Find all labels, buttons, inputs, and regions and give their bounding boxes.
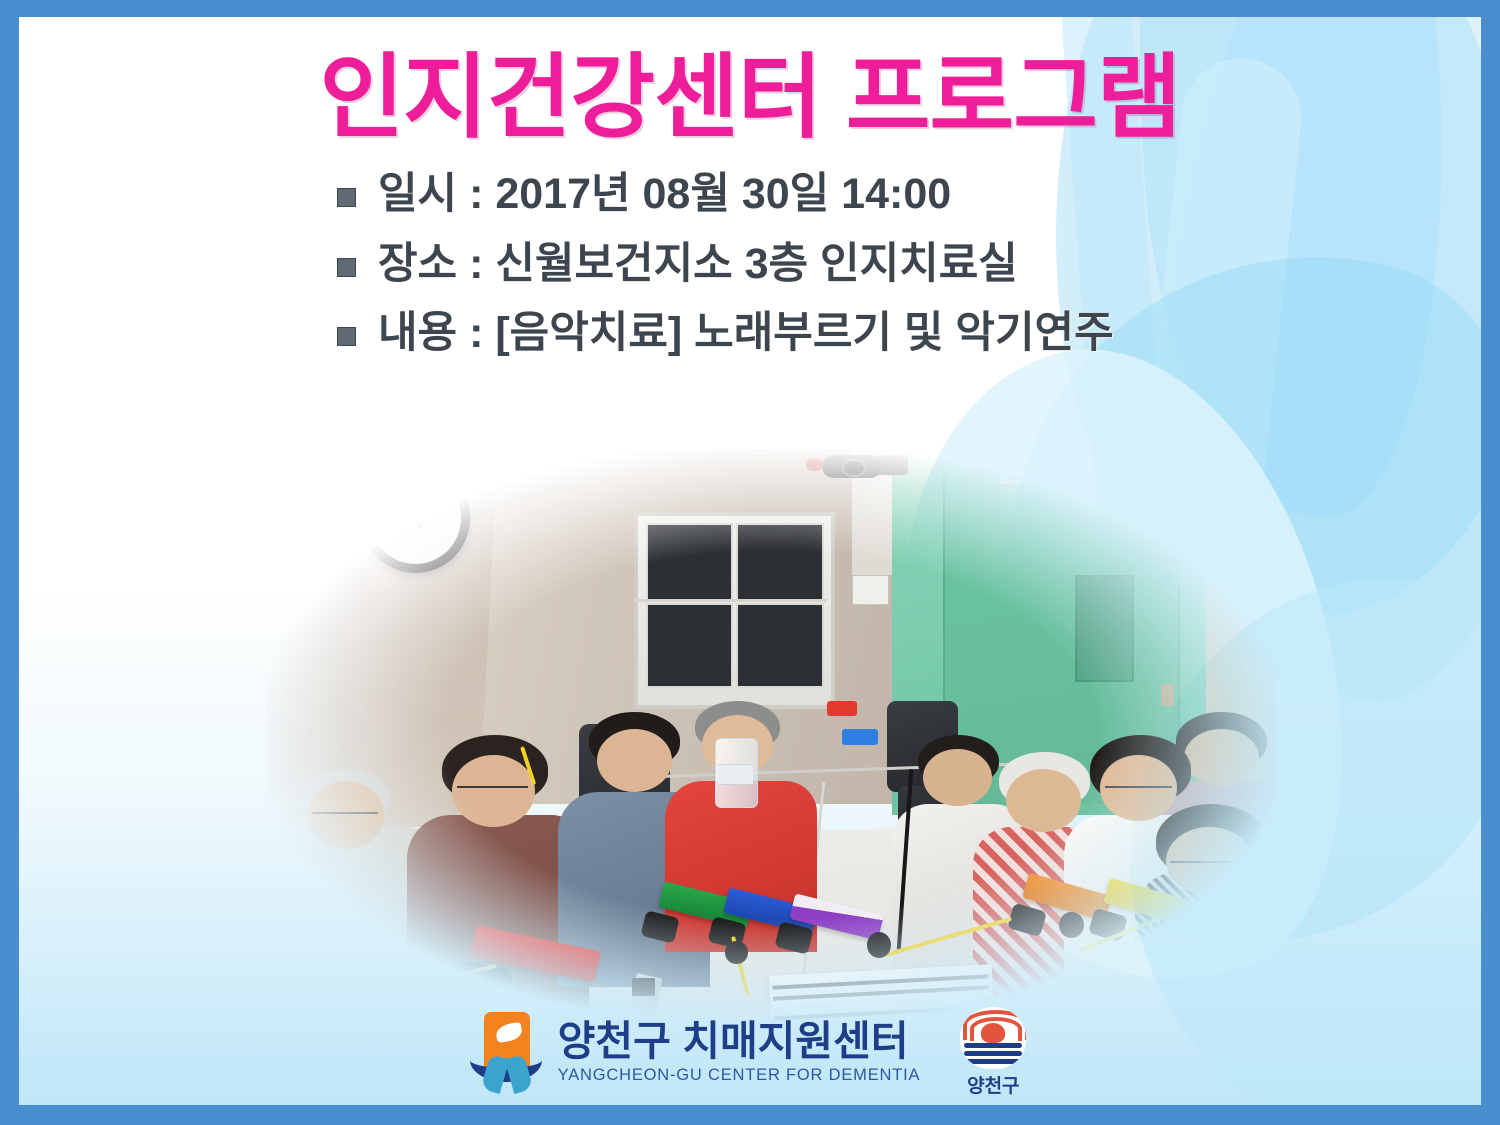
cabinet-pane bbox=[736, 603, 824, 687]
detail-date-text: 일시 : 2017년 08월 30일 14:00 bbox=[378, 168, 951, 222]
mallet-head bbox=[1059, 912, 1083, 938]
participant-head bbox=[597, 729, 672, 792]
poster-footer: 양천구 치매지원센터 YANGCHEON-GU CENTER FOR DEMEN… bbox=[19, 1007, 1481, 1097]
logo-text-group: 양천구 치매지원센터 YANGCHEON-GU CENTER FOR DEMEN… bbox=[558, 1019, 921, 1085]
emblem-circle bbox=[960, 1007, 1026, 1069]
thermostat bbox=[852, 575, 889, 606]
participant-head bbox=[923, 749, 992, 806]
square-bullet-icon bbox=[337, 188, 356, 207]
cabinet-shelf bbox=[634, 599, 826, 602]
fire-alarm-icon bbox=[806, 458, 822, 472]
detail-location-text: 장소 : 신월보건지소 3층 인지치료실 bbox=[378, 238, 1018, 292]
door-handle bbox=[1161, 684, 1174, 707]
participant-head bbox=[1006, 769, 1081, 832]
door-window bbox=[1075, 575, 1135, 682]
emblem-wave bbox=[964, 1043, 1022, 1048]
cabinet-pane bbox=[736, 523, 824, 601]
tone-bar-red-far bbox=[827, 701, 857, 716]
emblem-wave bbox=[964, 1051, 1022, 1056]
center-logo: 양천구 치매지원센터 YANGCHEON-GU CENTER FOR DEMEN… bbox=[468, 1010, 921, 1094]
photo-scene bbox=[265, 449, 1277, 1021]
list-item: 내용 : [음악치료] 노래부르기 및 악기연주 bbox=[19, 307, 1481, 361]
square-bullet-icon bbox=[337, 327, 356, 346]
square-bullet-icon bbox=[337, 258, 356, 277]
glasses-icon bbox=[312, 812, 379, 814]
bottle-label bbox=[718, 764, 752, 785]
poster-header: 인지건강센터 프로그램 일시 : 2017년 08월 30일 14:00 장소 … bbox=[19, 17, 1481, 377]
logo-figure bbox=[485, 1056, 529, 1092]
exit-sign-glow bbox=[1006, 462, 1049, 480]
glasses-icon bbox=[1170, 861, 1247, 863]
page-title: 인지건강센터 프로그램 bbox=[19, 17, 1481, 146]
yangcheon-gu-emblem-icon: 양천구 bbox=[954, 1007, 1032, 1097]
org-name-korean: 양천구 치매지원센터 bbox=[558, 1019, 909, 1063]
cabinet-pane bbox=[646, 523, 734, 601]
cabinet-pane bbox=[646, 603, 734, 687]
glasses-icon bbox=[457, 786, 528, 788]
participant-head bbox=[452, 755, 535, 827]
org-name-english: YANGCHEON-GU CENTER FOR DEMENTIA bbox=[558, 1066, 921, 1085]
emblem-sun bbox=[981, 1023, 1005, 1043]
glasses-icon bbox=[1105, 786, 1172, 788]
poster-root: 인지건강센터 프로그램 일시 : 2017년 08월 30일 14:00 장소 … bbox=[0, 0, 1500, 1125]
detail-content-text: 내용 : [음악치료] 노래부르기 및 악기연주 bbox=[378, 307, 1114, 361]
poster-details-list: 일시 : 2017년 08월 30일 14:00 장소 : 신월보건지소 3층 … bbox=[19, 168, 1481, 361]
camera-lens-icon bbox=[842, 459, 866, 477]
tone-bar-blue-far bbox=[842, 729, 878, 745]
list-item: 일시 : 2017년 08월 30일 14:00 bbox=[19, 168, 1481, 222]
emblem-label: 양천구 bbox=[954, 1071, 1032, 1098]
program-photo bbox=[265, 449, 1277, 1021]
mallet-head bbox=[488, 967, 512, 993]
chime-bar-label bbox=[632, 978, 654, 996]
list-item: 장소 : 신월보건지소 3층 인지치료실 bbox=[19, 238, 1481, 292]
dementia-center-logo-icon bbox=[468, 1010, 544, 1094]
emblem-wave bbox=[964, 1059, 1022, 1064]
poster-canvas: 인지건강센터 프로그램 일시 : 2017년 08월 30일 14:00 장소 … bbox=[19, 17, 1481, 1105]
mallet-head bbox=[725, 941, 747, 964]
speaker bbox=[877, 455, 907, 475]
participant-head bbox=[1184, 729, 1259, 786]
chime-bar-label bbox=[1159, 972, 1181, 990]
